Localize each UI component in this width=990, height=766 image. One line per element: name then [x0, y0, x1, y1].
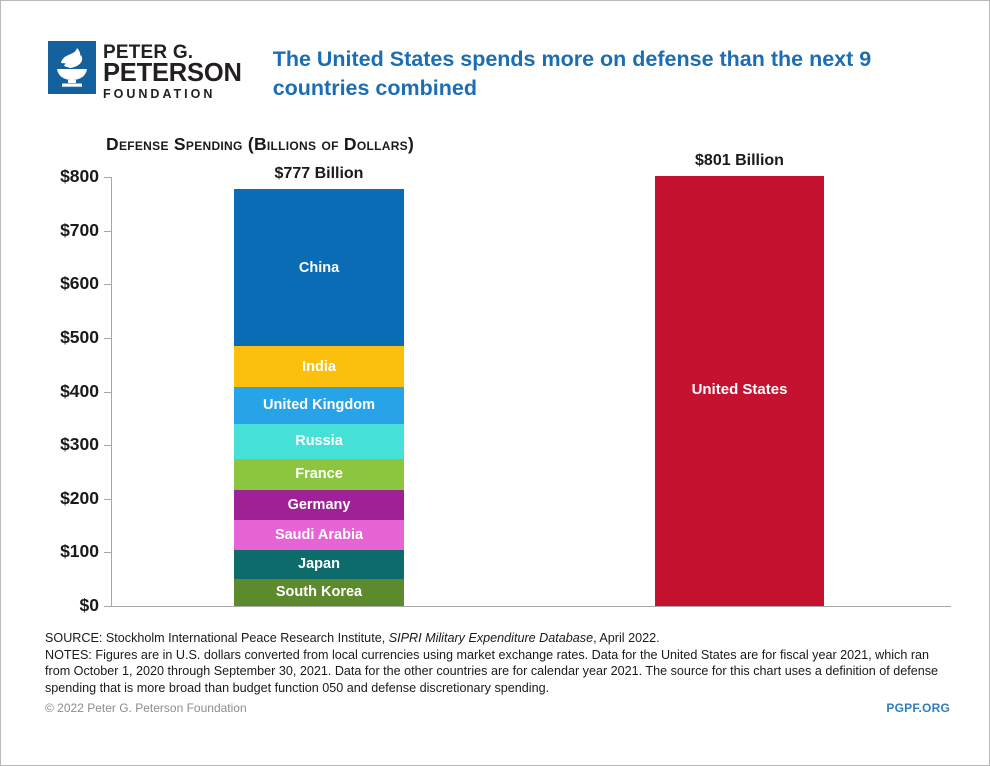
y-axis-tick-label: $500	[60, 327, 99, 348]
bar-total-label: $801 Billion	[655, 152, 824, 170]
bar-segment[interactable]: China	[234, 189, 404, 346]
logo-line-2: PETERSON	[103, 61, 242, 87]
y-axis-tick-label: $600	[60, 273, 99, 294]
y-axis-tick-label: $800	[60, 166, 99, 187]
segment-label: South Korea	[276, 584, 362, 600]
bar-segment[interactable]: India	[234, 346, 404, 387]
y-axis-tick-label: $400	[60, 381, 99, 402]
y-axis-tick	[104, 445, 111, 446]
y-axis-tick-label: $200	[60, 488, 99, 509]
logo-line-3: FOUNDATION	[103, 88, 242, 101]
bar-segment[interactable]: Japan	[234, 550, 404, 579]
segment-label: Japan	[298, 556, 340, 572]
x-axis-line	[111, 606, 951, 607]
y-axis-line	[111, 177, 112, 606]
source-italic: SIPRI Military Expenditure Database	[389, 631, 593, 645]
source-line: SOURCE: Stockholm International Peace Re…	[45, 630, 950, 647]
segment-label: United States	[655, 381, 824, 398]
y-axis-tick	[104, 177, 111, 178]
y-axis-tick	[104, 552, 111, 553]
y-axis-tick	[104, 231, 111, 232]
y-axis-tick	[104, 499, 111, 500]
segment-label: Germany	[288, 497, 351, 513]
source-prefix: SOURCE: Stockholm International Peace Re…	[45, 631, 389, 645]
segment-label: Saudi Arabia	[275, 527, 363, 543]
y-axis-tick	[104, 392, 111, 393]
page-title: The United States spends more on defense…	[273, 45, 923, 103]
pgpf-site-link[interactable]: PGPF.ORG	[886, 701, 950, 715]
torch-in-bowl-icon	[48, 41, 96, 94]
segment-label: United Kingdom	[263, 397, 375, 413]
infographic-page: PETER G. PETERSON FOUNDATION The United …	[0, 0, 990, 766]
bar-segment[interactable]: Russia	[234, 424, 404, 459]
bar-total-label: $777 Billion	[234, 165, 404, 183]
notes-block: SOURCE: Stockholm International Peace Re…	[45, 630, 950, 696]
chart-title: Defense Spending (Billions of Dollars)	[106, 134, 414, 155]
bar-segment[interactable]: France	[234, 459, 404, 490]
y-axis-tick	[104, 606, 111, 607]
plot-area: South KoreaJapanSaudi ArabiaGermanyFranc…	[111, 177, 951, 606]
logo-wordmark: PETER G. PETERSON FOUNDATION	[103, 43, 242, 100]
source-suffix: , April 2022.	[593, 631, 660, 645]
bar-segment[interactable]: United Kingdom	[234, 387, 404, 423]
y-axis-tick-label: $0	[80, 595, 99, 616]
y-axis-tick-label: $100	[60, 541, 99, 562]
footer: © 2022 Peter G. Peterson Foundation PGPF…	[45, 701, 950, 715]
notes-body: NOTES: Figures are in U.S. dollars conve…	[45, 647, 950, 697]
bar-united-states[interactable]: United States	[655, 176, 824, 606]
y-axis-tick	[104, 338, 111, 339]
pgpf-logo: PETER G. PETERSON FOUNDATION	[48, 41, 242, 100]
bar-segment[interactable]: Saudi Arabia	[234, 520, 404, 550]
y-axis-tick-label: $300	[60, 434, 99, 455]
segment-label: India	[302, 359, 336, 375]
copyright-text: © 2022 Peter G. Peterson Foundation	[45, 701, 247, 715]
y-axis-tick	[104, 284, 111, 285]
y-axis-labels: $0$100$200$300$400$500$600$700$800	[1, 177, 99, 606]
segment-label: Russia	[295, 433, 343, 449]
bar-segment[interactable]: Germany	[234, 490, 404, 520]
segment-label: France	[295, 466, 343, 482]
segment-label: China	[299, 260, 339, 276]
bar-segment[interactable]: South Korea	[234, 579, 404, 606]
header: PETER G. PETERSON FOUNDATION The United …	[48, 41, 923, 103]
bar-next-9-countries[interactable]: South KoreaJapanSaudi ArabiaGermanyFranc…	[234, 189, 404, 606]
y-axis-tick-label: $700	[60, 220, 99, 241]
